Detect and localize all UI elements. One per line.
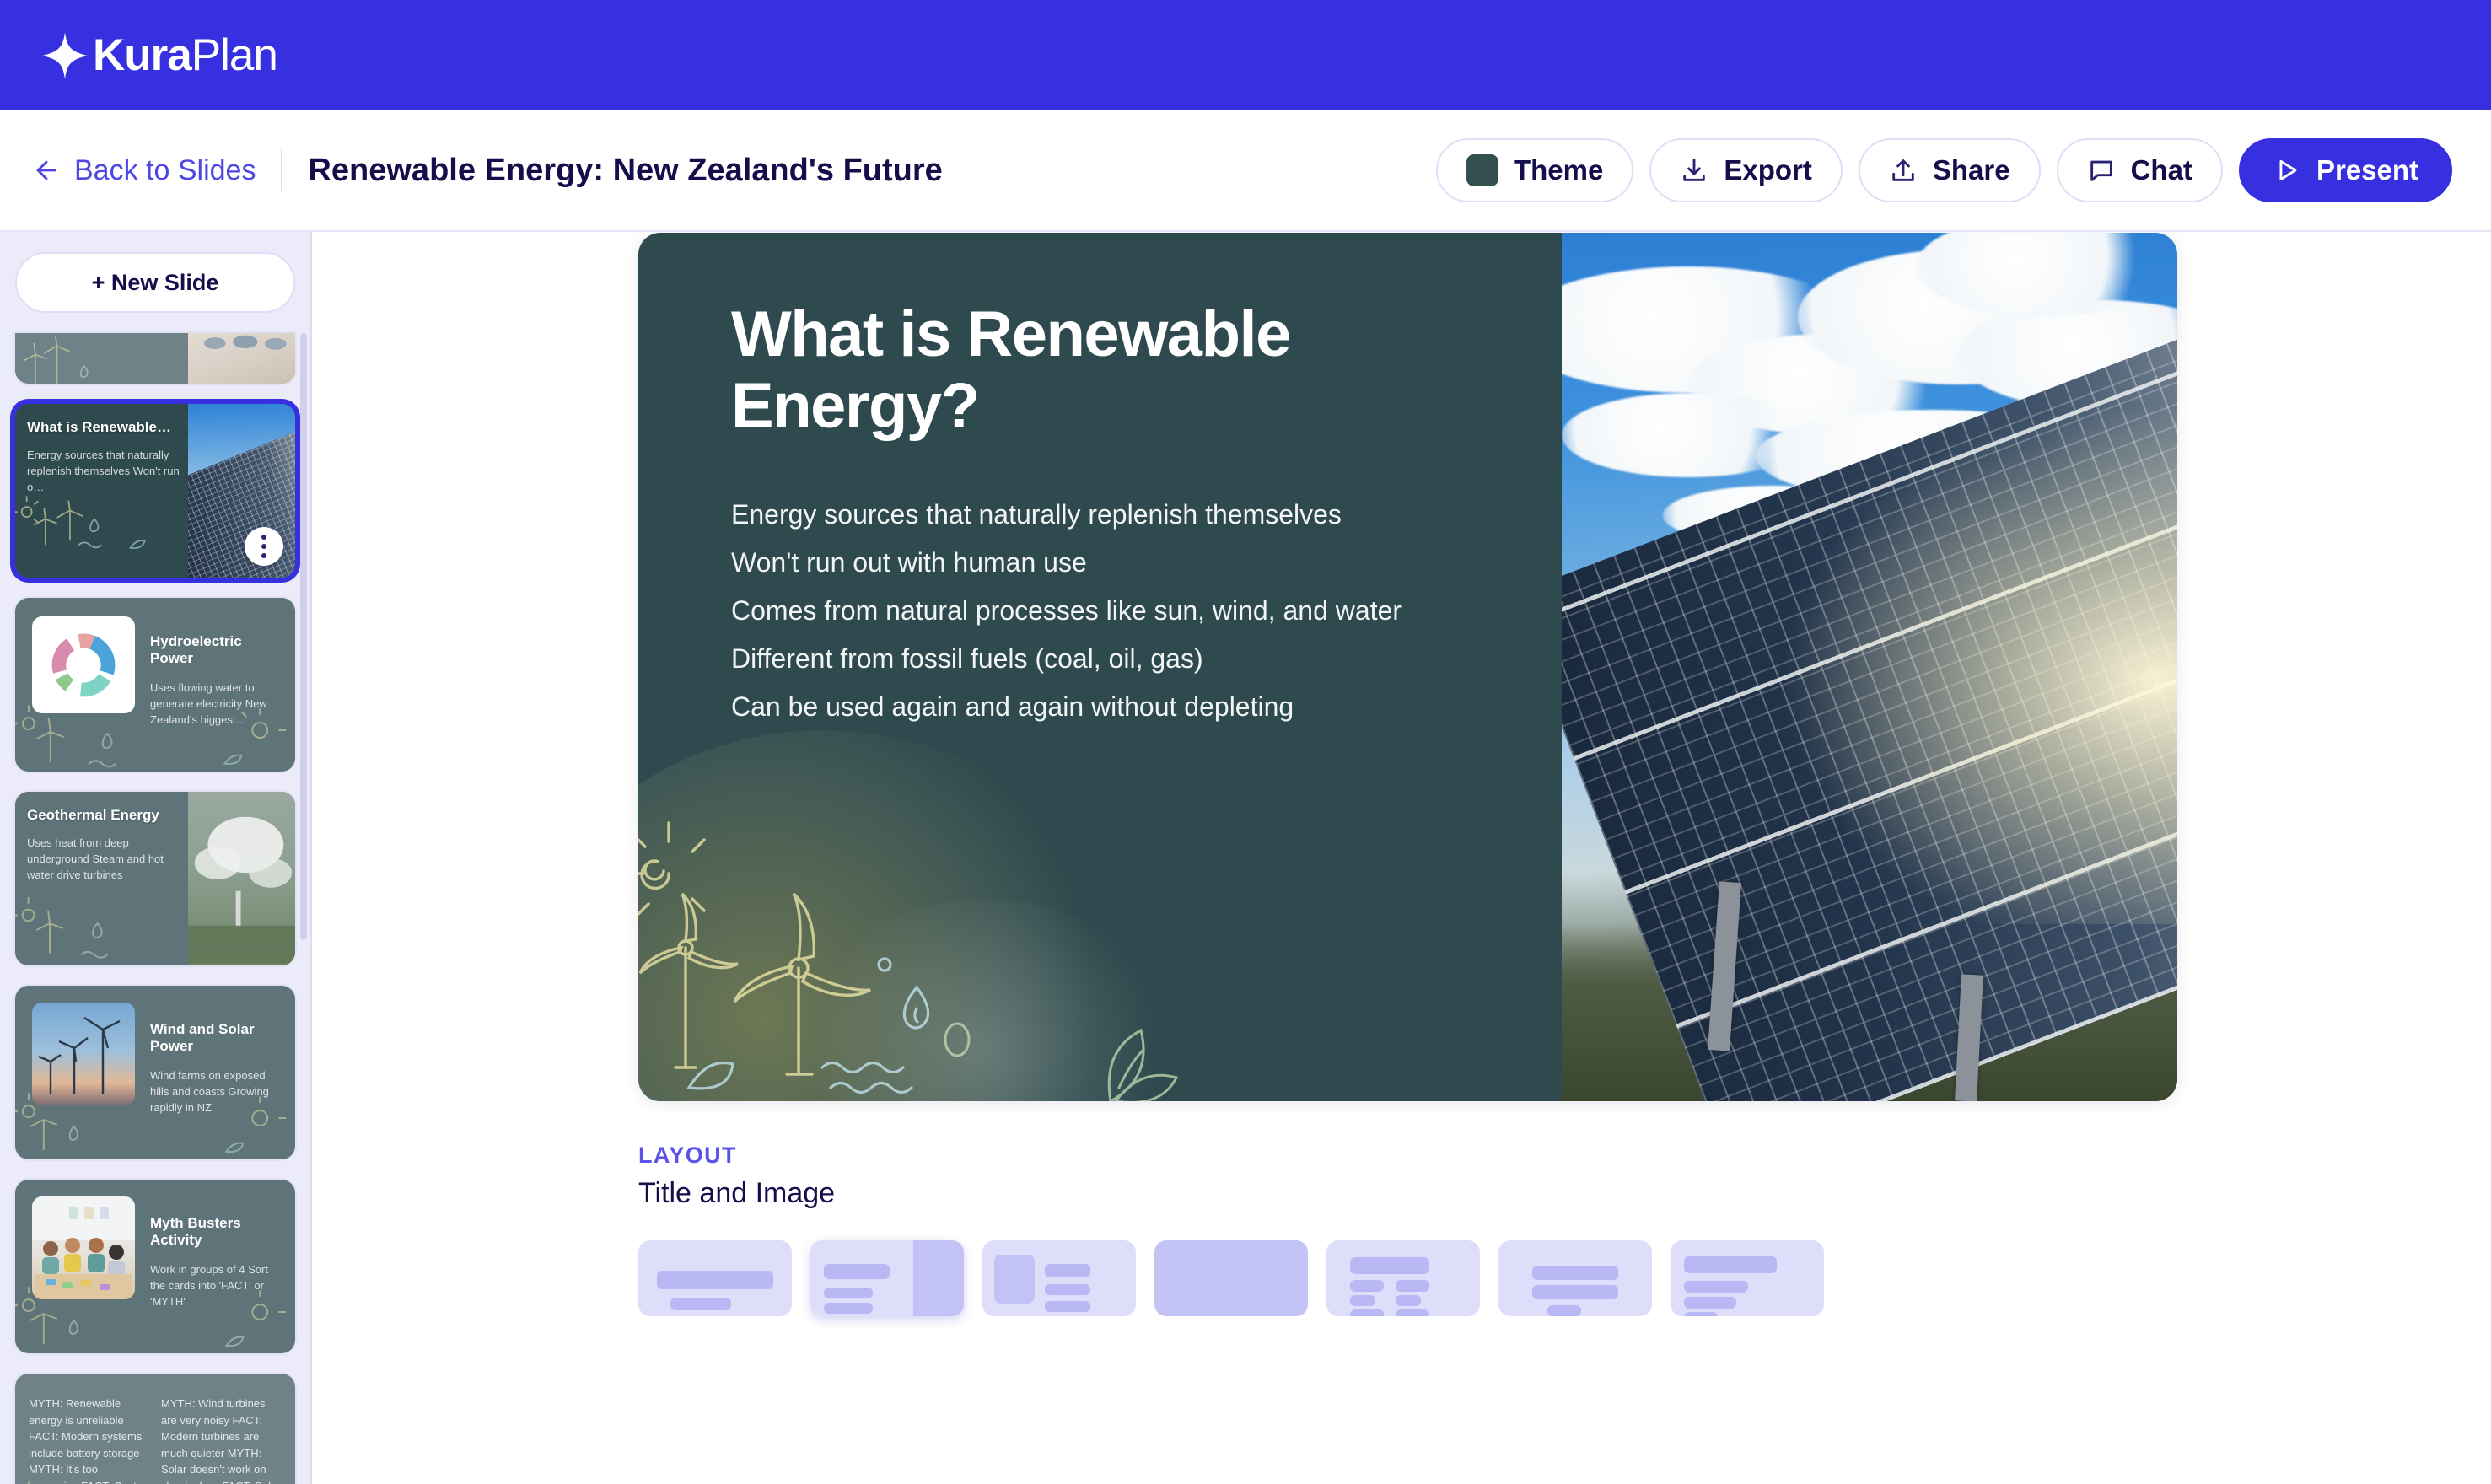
slide-image-pane <box>1562 233 2177 1101</box>
slide-thumbnail-list: What is Renewable… Energy sources that n… <box>15 333 295 1484</box>
layout-bar <box>824 1264 890 1279</box>
layout-bar <box>1532 1266 1618 1280</box>
more-vertical-icon-dot <box>261 535 266 540</box>
slide-canvas: What is Renewable Energy? Energy sources… <box>312 232 2491 1484</box>
thumbnail-body: Wind farms on exposed hills and coasts G… <box>150 1068 283 1116</box>
sidebar-scrollbar[interactable] <box>300 333 307 940</box>
thumbnail-image <box>32 1196 135 1299</box>
slide-preview[interactable]: What is Renewable Energy? Energy sources… <box>638 233 2177 1101</box>
thumbnail-image <box>188 333 295 384</box>
slide-bullet: Won't run out with human use <box>731 539 1494 587</box>
layout-bar <box>824 1303 873 1314</box>
layout-bar <box>1396 1280 1429 1292</box>
layout-bar <box>824 1288 873 1298</box>
layout-option-title-only[interactable] <box>638 1240 792 1316</box>
share-upload-icon <box>1889 156 1918 185</box>
slide-thumbnail[interactable]: Hydroelectric Power Uses flowing water t… <box>15 598 295 772</box>
layout-option-two-column-list[interactable] <box>1326 1240 1480 1316</box>
layout-picker-kicker: LAYOUT <box>638 1143 1824 1169</box>
slide-thumbnail-selected[interactable]: What is Renewable… Energy sources that n… <box>15 404 295 578</box>
thumbnail-title: Wind and Solar Power <box>150 1021 283 1055</box>
brand-bar: KuraPlan <box>0 0 2491 110</box>
slide-glow-decoration-secondary <box>790 899 1178 1101</box>
present-button[interactable]: Present <box>2239 138 2452 202</box>
thumbnail-two-column-text: MYTH: Renewable energy is unreliable FAC… <box>15 1374 295 1484</box>
thumbnail-text-pane: What is Renewable… Energy sources that n… <box>15 404 188 578</box>
thumbnail-content <box>15 333 295 384</box>
layout-bar <box>670 1298 731 1310</box>
layout-bar <box>1532 1285 1618 1299</box>
layout-option-image-left-text-right[interactable] <box>982 1240 1136 1316</box>
more-vertical-icon-dot <box>261 544 266 549</box>
chat-button-label: Chat <box>2131 154 2192 186</box>
layout-bar <box>1045 1301 1090 1312</box>
present-button-label: Present <box>2316 154 2418 186</box>
layout-selected-name: Title and Image <box>638 1177 1824 1210</box>
back-to-slides-button[interactable]: Back to Slides <box>32 154 256 187</box>
slide-bullet: Can be used again and again without depl… <box>731 683 1494 731</box>
app-logo[interactable]: KuraPlan <box>40 31 277 80</box>
thumbnail-donut-chart <box>32 616 135 713</box>
layout-bar <box>657 1271 773 1289</box>
eco-doodle-icon <box>15 333 188 384</box>
layout-bar <box>1396 1295 1421 1306</box>
color-swatch-icon <box>1466 154 1498 186</box>
play-triangle-icon <box>2273 156 2301 185</box>
thumbnail-text-pane <box>15 333 188 384</box>
export-button-label: Export <box>1724 154 1812 186</box>
slide-text-pane: What is Renewable Energy? Energy sources… <box>638 233 1562 1101</box>
thumbnail-title: Geothermal Energy <box>27 807 180 824</box>
slide-thumbnail[interactable]: Geothermal Energy Uses heat from deep un… <box>15 792 295 965</box>
layout-image-block <box>994 1255 1035 1304</box>
thumbnail-image <box>188 792 295 965</box>
layout-bar <box>1350 1257 1429 1274</box>
slide-bullet-list: Energy sources that naturally replenish … <box>731 491 1494 731</box>
chat-button[interactable]: Chat <box>2057 138 2223 202</box>
layout-bar <box>1396 1309 1429 1316</box>
layout-option-list <box>638 1240 1824 1316</box>
workspace: + New Slide <box>0 232 2491 1484</box>
slide-glow-decoration <box>638 730 1127 1101</box>
layout-option-full-image[interactable] <box>1154 1240 1308 1316</box>
slide-bullet: Different from fossil fuels (coal, oil, … <box>731 635 1494 683</box>
layout-bar <box>1684 1312 1718 1316</box>
thumbnail-title: Hydroelectric Power <box>150 633 283 667</box>
thumbnail-title: What is Renewable… <box>27 419 180 436</box>
document-title: Renewable Energy: New Zealand's Future <box>308 153 942 189</box>
thumbnail-body: Energy sources that naturally replenish … <box>27 448 180 496</box>
app-logo-text: KuraPlan <box>93 33 277 78</box>
slide-thumbnail[interactable] <box>15 333 295 384</box>
layout-image-block <box>913 1240 964 1316</box>
classroom-activity-illustration-icon <box>32 1196 135 1299</box>
thumbnail-column-right: MYTH: Wind turbines are very noisy FACT:… <box>161 1395 282 1484</box>
layout-bar <box>1045 1264 1090 1277</box>
share-button[interactable]: Share <box>1859 138 2041 202</box>
thumbnail-text-pane: Myth Busters Activity Work in groups of … <box>150 1215 283 1310</box>
layout-bar <box>1547 1305 1581 1316</box>
layout-bar <box>1684 1256 1777 1273</box>
export-button[interactable]: Export <box>1649 138 1843 202</box>
layout-bar <box>1350 1309 1384 1316</box>
slide-options-menu-button[interactable] <box>245 527 283 566</box>
theme-button[interactable]: Theme <box>1436 138 1633 202</box>
thumbnail-image <box>32 1003 135 1105</box>
solar-array-illustration-icon <box>188 333 295 384</box>
thumbnail-body: Work in groups of 4 Sort the cards into … <box>150 1262 283 1310</box>
back-to-slides-label: Back to Slides <box>74 154 256 187</box>
slide-thumbnail[interactable]: Wind and Solar Power Wind farms on expos… <box>15 986 295 1159</box>
thumbnail-title: Myth Busters Activity <box>150 1215 283 1249</box>
slide-thumbnail[interactable]: Myth Busters Activity Work in groups of … <box>15 1180 295 1353</box>
thumbnail-text-pane: Hydroelectric Power Uses flowing water t… <box>150 633 283 729</box>
layout-bar <box>1684 1281 1748 1293</box>
donut-chart-icon <box>46 628 121 702</box>
toolbar-actions: Theme Export Share Chat Present <box>1436 138 2452 202</box>
editor-toolbar: Back to Slides Renewable Energy: New Zea… <box>0 110 2491 232</box>
app-logo-bold: Kura <box>93 30 191 80</box>
layout-picker: LAYOUT Title and Image <box>638 1143 1824 1316</box>
more-vertical-icon-dot <box>261 553 266 558</box>
thumbnail-body: Uses heat from deep underground Steam an… <box>27 836 180 884</box>
slide-thumbnail[interactable]: MYTH: Renewable energy is unreliable FAC… <box>15 1374 295 1484</box>
new-slide-label: + New Slide <box>92 270 219 296</box>
slide-sidebar: + New Slide <box>0 232 312 1484</box>
layout-option-title-and-bullets[interactable] <box>1671 1240 1824 1316</box>
thumbnail-text-pane: Wind and Solar Power Wind farms on expos… <box>150 1021 283 1116</box>
share-button-label: Share <box>1933 154 2010 186</box>
thumbnail-body: Uses flowing water to generate electrici… <box>150 680 283 729</box>
app-logo-light: Plan <box>191 30 277 80</box>
layout-bar <box>1350 1280 1384 1292</box>
download-icon <box>1680 156 1708 185</box>
layout-option-centered-text[interactable] <box>1498 1240 1652 1316</box>
toolbar-divider <box>281 149 282 191</box>
slide-bullet: Comes from natural processes like sun, w… <box>731 587 1494 635</box>
slide-bullet: Energy sources that naturally replenish … <box>731 491 1494 539</box>
chat-bubble-icon <box>2087 156 2116 185</box>
theme-button-label: Theme <box>1514 154 1603 186</box>
wind-turbine-illustration-icon <box>32 1003 135 1105</box>
thumbnail-content: What is Renewable… Energy sources that n… <box>15 404 295 578</box>
eco-doodle-icon <box>638 747 1229 1101</box>
layout-bar <box>1350 1295 1375 1306</box>
new-slide-button[interactable]: + New Slide <box>15 252 295 313</box>
thumbnail-text-pane: Geothermal Energy Uses heat from deep un… <box>15 792 188 965</box>
sparkle-icon <box>40 31 89 80</box>
arrow-left-icon <box>32 156 61 185</box>
thumbnail-content: Geothermal Energy Uses heat from deep un… <box>15 792 295 965</box>
geothermal-steam-illustration-icon <box>188 792 295 965</box>
layout-option-title-and-image[interactable] <box>810 1240 964 1316</box>
layout-bar <box>1684 1297 1736 1309</box>
layout-bar <box>1045 1284 1090 1295</box>
thumbnail-column-left: MYTH: Renewable energy is unreliable FAC… <box>29 1395 149 1484</box>
slide-title: What is Renewable Energy? <box>731 298 1321 442</box>
